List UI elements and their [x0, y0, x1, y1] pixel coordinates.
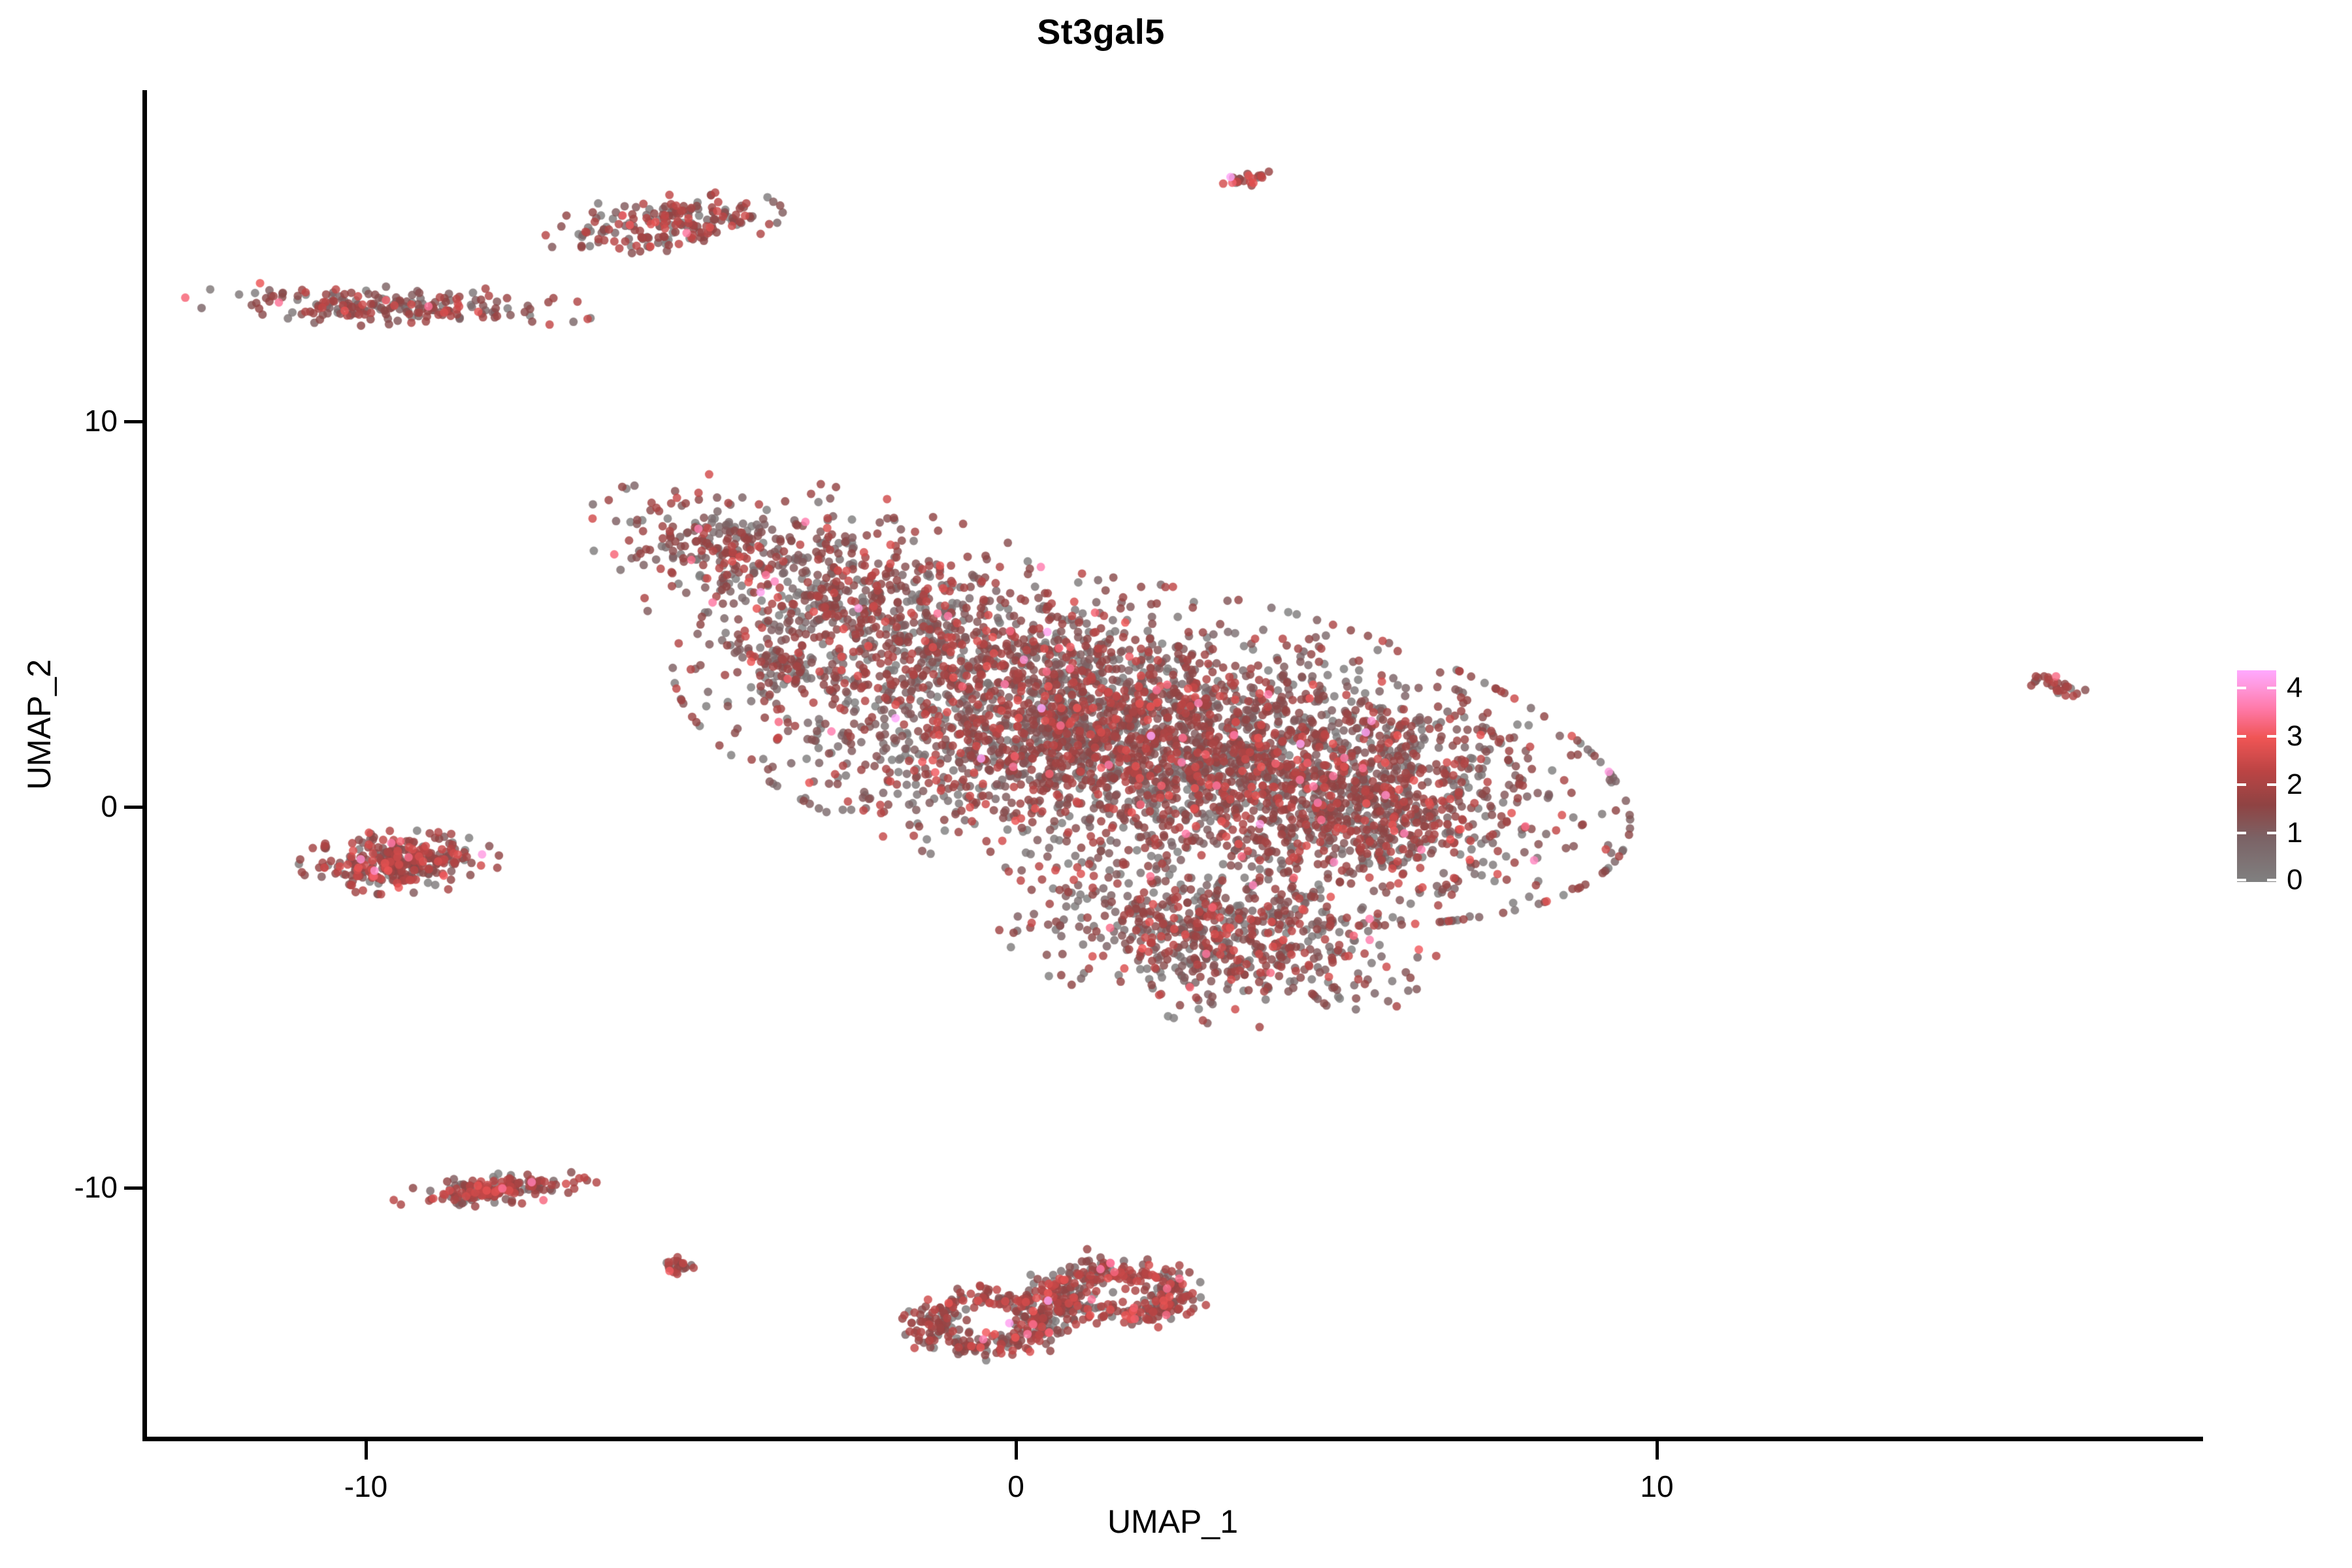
colorbar-tick-1-left: [2237, 832, 2246, 834]
colorbar-tick-3-left: [2237, 735, 2246, 738]
x-axis-title: UMAP_1: [142, 1503, 2203, 1541]
x-tick-mark-0: [1015, 1441, 1018, 1460]
colorbar-label-1: 1: [2287, 817, 2302, 849]
page-title: St3gal5: [0, 12, 2202, 52]
x-tick-mark-neg10: [365, 1441, 368, 1460]
y-axis-title: UMAP_2: [20, 568, 58, 881]
y-tick-label-neg10: -10: [74, 1169, 118, 1205]
y-axis-line: [142, 90, 147, 1441]
x-tick-label-0: 0: [1007, 1469, 1024, 1504]
scatter-points-layer: [147, 90, 2203, 1437]
x-tick-label-10: 10: [1640, 1469, 1673, 1504]
colorbar-tick-3-right: [2267, 735, 2276, 738]
colorbar-tick-2-left: [2237, 783, 2246, 786]
x-tick-mark-10: [1656, 1441, 1659, 1460]
chart-root: St3gal5 10 0 -10 -10 0 10 UMAP_1 UMAP_2 …: [0, 0, 2352, 1568]
colorbar-gradient: [2237, 670, 2276, 882]
colorbar-tick-0-left: [2237, 879, 2246, 881]
colorbar-tick-1-right: [2267, 832, 2276, 834]
colorbar-label-0: 0: [2287, 864, 2302, 896]
y-tick-label-10: 10: [84, 403, 118, 438]
y-tick-label-0: 0: [101, 789, 118, 824]
y-tick-mark-10: [124, 420, 142, 423]
colorbar-label-2: 2: [2287, 768, 2302, 801]
colorbar-label-3: 3: [2287, 720, 2302, 753]
colorbar-tick-0-right: [2267, 879, 2276, 881]
plot-panel: [147, 90, 2203, 1437]
colorbar-tick-4-right: [2267, 687, 2276, 689]
x-tick-label-neg10: -10: [344, 1469, 387, 1504]
colorbar-legend: 4 3 2 1 0: [2237, 670, 2276, 882]
y-tick-mark-neg10: [124, 1186, 142, 1190]
colorbar-tick-2-right: [2267, 783, 2276, 786]
colorbar-label-4: 4: [2287, 672, 2302, 704]
y-tick-mark-0: [124, 806, 142, 809]
colorbar-tick-4-left: [2237, 687, 2246, 689]
x-axis-line: [142, 1437, 2203, 1441]
